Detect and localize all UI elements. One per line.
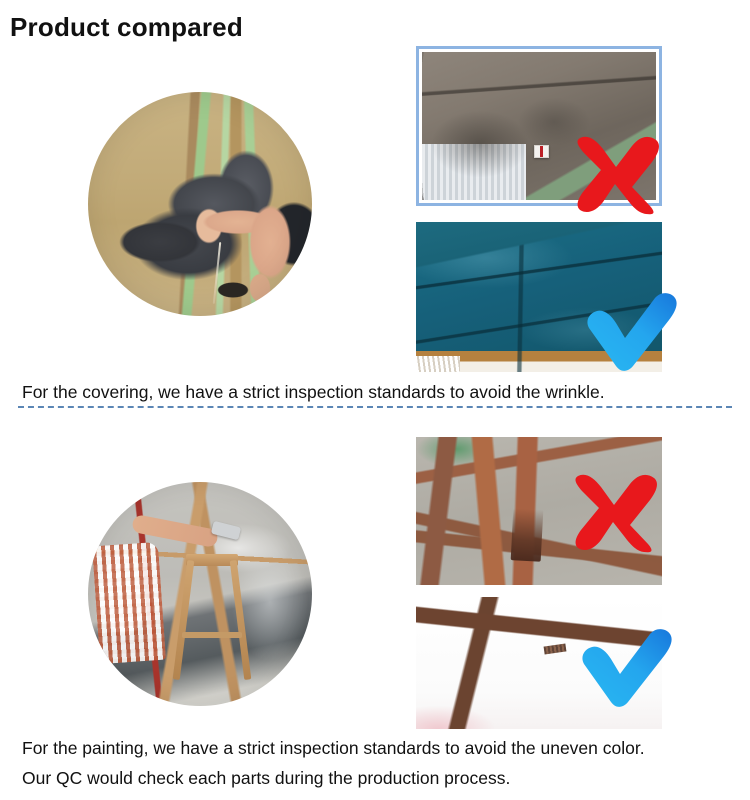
gray-wrinkled-sofa-photo [422, 52, 656, 200]
caption-painting: For the painting, we have a strict inspe… [22, 738, 645, 759]
caption-covering: For the covering, we have a strict inspe… [22, 382, 605, 403]
caption-qc: Our QC would check each parts during the… [22, 768, 510, 789]
section-divider [18, 406, 732, 408]
gray-sofa-frame [416, 46, 662, 206]
even-color-leg-photo [416, 597, 662, 729]
spray-painting-photo [88, 482, 312, 706]
uneven-color-frame-photo [416, 437, 662, 585]
floor-rug [416, 356, 460, 372]
leg-joinery-detail [544, 644, 567, 655]
wooden-stool [176, 554, 248, 680]
stool-rail [182, 632, 242, 638]
stool-leg-left [173, 560, 195, 680]
teal-smooth-sofa-photo [416, 222, 662, 372]
fabric-brand-tag [534, 145, 549, 158]
uneven-color-patch [511, 508, 544, 561]
upholstery-fitting-photo [88, 92, 312, 316]
worker-plaid-shirt [92, 542, 166, 664]
stool-leg-right [230, 560, 252, 680]
page-title: Product compared [10, 12, 243, 43]
